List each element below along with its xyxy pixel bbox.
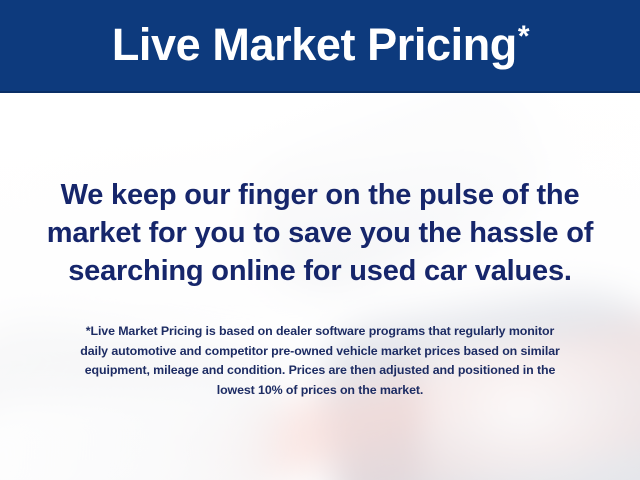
disclaimer-text: *Live Market Pricing is based on dealer …	[22, 290, 618, 400]
banner-title-asterisk: *	[518, 20, 529, 53]
banner-title-text: Live Market Pricing	[112, 19, 517, 70]
header-band: Live Market Pricing*	[0, 0, 640, 93]
live-market-pricing-banner: Live Market Pricing* We keep our finger …	[0, 0, 640, 480]
disclaimer-line: daily automotive and competitor pre-owne…	[22, 342, 618, 362]
headline-line: We keep our finger on the pulse of the	[22, 176, 618, 214]
disclaimer-line: equipment, mileage and condition. Prices…	[22, 361, 618, 381]
banner-content: We keep our finger on the pulse of the m…	[0, 93, 640, 480]
headline: We keep our finger on the pulse of the m…	[22, 93, 618, 290]
headline-line: searching online for used car values.	[22, 252, 618, 290]
disclaimer-line: *Live Market Pricing is based on dealer …	[22, 322, 618, 342]
disclaimer-line: lowest 10% of prices on the market.	[22, 381, 618, 401]
headline-line: market for you to save you the hassle of	[22, 214, 618, 252]
banner-title: Live Market Pricing*	[112, 22, 528, 67]
